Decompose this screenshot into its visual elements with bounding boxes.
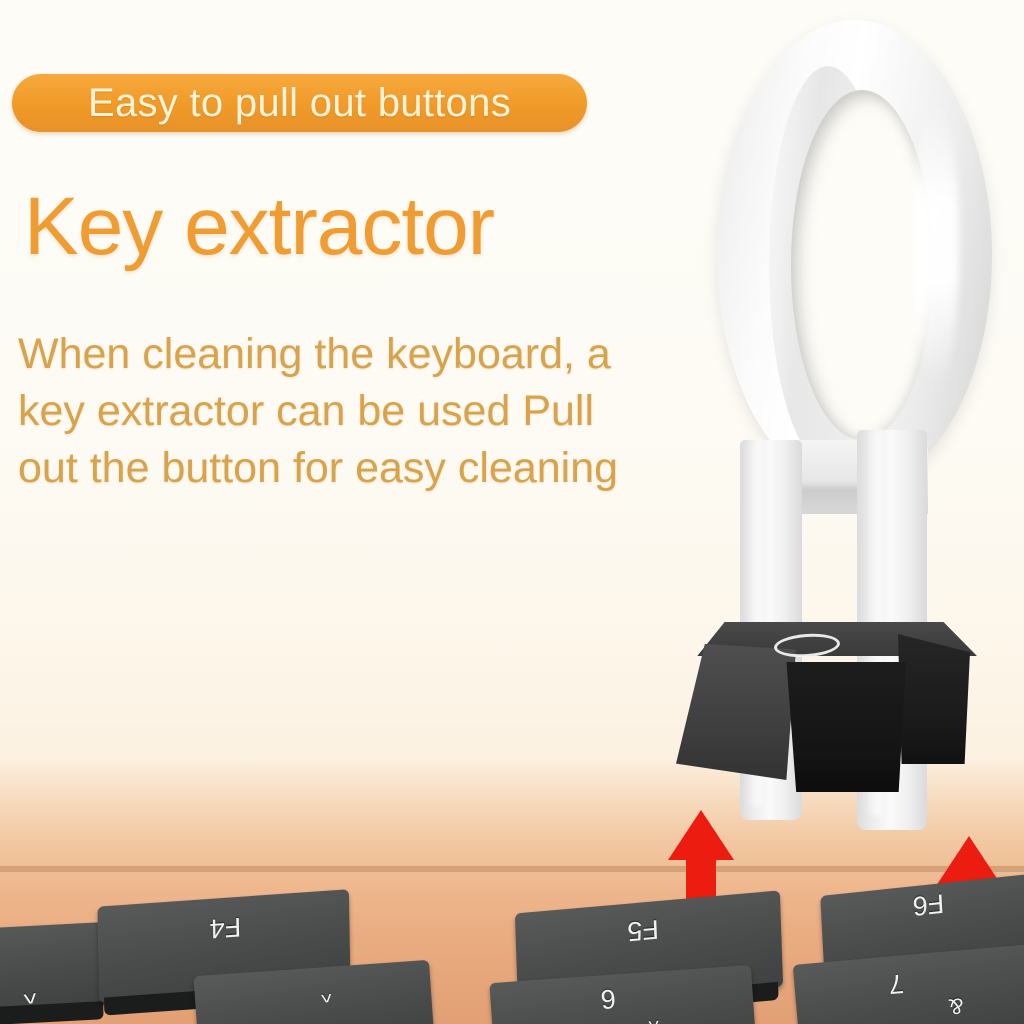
key-7-sublegend: & xyxy=(948,994,965,1017)
extractor-ring-hole xyxy=(791,90,933,440)
key-f5-legend: F5 xyxy=(627,915,659,945)
tagline-badge: Easy to pull out buttons xyxy=(12,74,587,132)
key-slash-legend: ^ xyxy=(320,983,333,1006)
key-caret-skirt xyxy=(0,1001,104,1024)
key-7-legend: 7 xyxy=(887,969,904,997)
description-line-1: When cleaning the keyboard, a xyxy=(18,326,738,383)
description-line-2: key extractor can be used Pull xyxy=(18,383,738,440)
key-f6-legend: F6 xyxy=(912,889,945,919)
key-6-sublegend: ^ xyxy=(648,1010,660,1024)
key-f4-legend: F4 xyxy=(209,913,241,942)
product-marketing-image: Easy to pull out buttons Key extractor W… xyxy=(0,0,1024,1024)
page-title: Key extractor xyxy=(24,184,724,270)
key-6-legend: 6 xyxy=(600,984,617,1012)
extractor-ring-highlight xyxy=(913,100,959,390)
arrow-up-left-head xyxy=(668,810,734,860)
description-line-3: out the button for easy cleaning xyxy=(18,440,738,497)
key-caret-legend: ^ xyxy=(22,979,38,1007)
lifted-keycap-front-face xyxy=(784,662,906,792)
tagline-badge-label: Easy to pull out buttons xyxy=(88,83,511,123)
lifted-keycap xyxy=(672,622,988,794)
lifted-keycap-left-face xyxy=(676,644,796,780)
key-caret: ^ xyxy=(0,922,106,1014)
keyboard-keys: ^ F4 ^ F5 6 ^ F6 7 & xyxy=(0,876,1024,1024)
extractor-pull-ring xyxy=(717,20,992,490)
description-text: When cleaning the keyboard, a key extrac… xyxy=(18,326,738,496)
